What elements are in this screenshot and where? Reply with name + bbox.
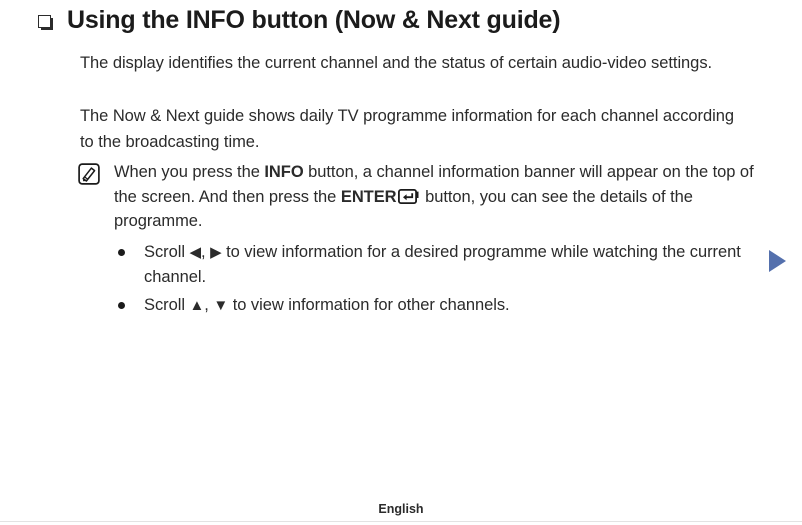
list-item-text: Scroll ◀, ▶ to view information for a de… [144,240,754,289]
note-keyword-enter: ENTER [341,188,397,206]
note-pencil-icon [78,163,100,185]
next-page-arrow-icon[interactable] [769,250,786,272]
list-item-suffix: to view information for a desired progra… [144,243,741,286]
note-text-part1: When you press the [114,163,264,181]
right-arrow-icon: ▶ [210,244,222,261]
manual-page: Using the INFO button (Now & Next guide)… [0,0,802,525]
up-arrow-icon: ▲ [190,297,205,314]
list-item: Scroll ◀, ▶ to view information for a de… [118,240,754,289]
footer-divider [0,521,802,522]
list-item-separator: , [201,243,210,261]
note-keyword-info: INFO [264,163,303,181]
down-arrow-icon: ▼ [213,297,228,314]
list-item: Scroll ▲, ▼ to view information for othe… [118,293,754,318]
instruction-list: Scroll ◀, ▶ to view information for a de… [118,240,754,322]
enter-key-icon [398,187,420,202]
list-item-prefix: Scroll [144,243,190,261]
note-block: When you press the INFO button, a channe… [78,160,756,234]
footer-language-label: English [0,502,802,516]
note-text: When you press the INFO button, a channe… [114,160,756,234]
page-title: Using the INFO button (Now & Next guide) [67,6,560,35]
bullet-dot-icon [118,249,125,256]
list-item-separator: , [204,296,213,314]
intro-paragraph-2: The Now & Next guide shows daily TV prog… [80,103,752,155]
intro-paragraph-1: The display identifies the current chann… [80,50,752,76]
bullet-dot-icon [118,302,125,309]
list-item-suffix: to view information for other channels. [228,296,509,314]
left-arrow-icon: ◀ [190,244,202,261]
list-item-prefix: Scroll [144,296,190,314]
list-item-text: Scroll ▲, ▼ to view information for othe… [144,293,754,318]
page-heading: Using the INFO button (Now & Next guide) [38,6,762,35]
square-bullet-icon [38,15,53,30]
